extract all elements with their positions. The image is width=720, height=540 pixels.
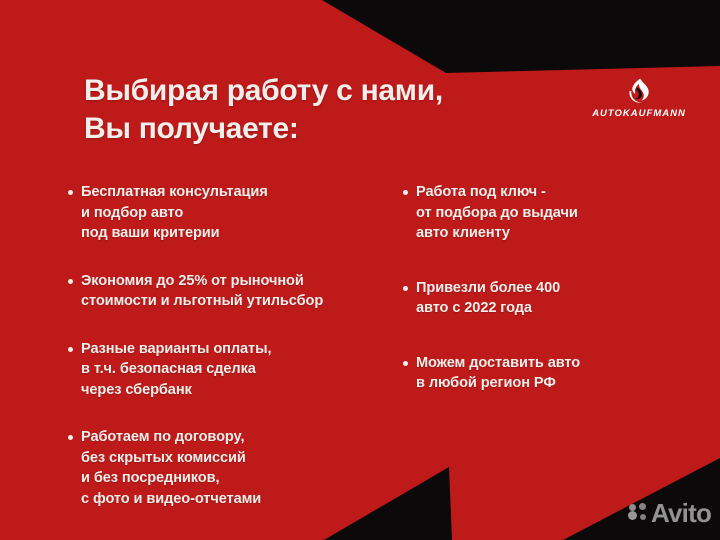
page-title: Выбирая работу с нами, Вы получаете: xyxy=(84,72,554,148)
list-item-text: Разные варианты оплаты,в т.ч. безопасная… xyxy=(81,339,271,401)
list-item-text: Экономия до 25% от рыночнойстоимости и л… xyxy=(81,271,323,312)
headline-line-2: Вы получаете: xyxy=(84,110,554,148)
brand-wordmark: AUTOKAUFMANN xyxy=(586,108,692,119)
list-item: Привезли более 400авто с 2022 года xyxy=(403,278,703,319)
list-item-text: Привезли более 400авто с 2022 года xyxy=(416,278,560,319)
promo-banner: Выбирая работу с нами, Вы получаете: AUT… xyxy=(0,0,720,540)
list-item: Экономия до 25% от рыночнойстоимости и л… xyxy=(68,271,408,312)
list-item: Работаем по договору,без скрытых комисси… xyxy=(68,427,408,509)
list-item-text: Бесплатная консультацияи подбор автопод … xyxy=(81,182,268,244)
avito-wordmark: Avito xyxy=(651,500,711,526)
list-item-line: в т.ч. безопасная сделка xyxy=(81,359,271,380)
list-item-line: под ваши критерии xyxy=(81,223,268,244)
list-item-line: с фото и видео-отчетами xyxy=(81,489,261,510)
benefits-column-left: Бесплатная консультацияи подбор автопод … xyxy=(68,182,408,536)
list-item-line: авто клиенту xyxy=(416,223,578,244)
list-item-line: в любой регион РФ xyxy=(416,373,580,394)
bullet-dot-icon xyxy=(403,361,408,366)
avito-dots-icon xyxy=(628,503,648,523)
list-item: Работа под ключ -от подбора до выдачиавт… xyxy=(403,182,703,244)
benefits-column-right: Работа под ключ -от подбора до выдачиавт… xyxy=(403,182,703,428)
list-item-line: авто с 2022 года xyxy=(416,298,560,319)
list-item-line: через сбербанк xyxy=(81,380,271,401)
list-item-line: Привезли более 400 xyxy=(416,278,560,299)
list-item-line: и без посредников, xyxy=(81,468,261,489)
brand-logo: AUTOKAUFMANN xyxy=(586,76,692,119)
list-item-line: Работаем по договору, xyxy=(81,427,261,448)
list-item-line: Бесплатная консультация xyxy=(81,182,268,203)
list-item-line: без скрытых комиссий xyxy=(81,448,261,469)
list-item-line: Можем доставить авто xyxy=(416,353,580,374)
list-item-line: и подбор авто xyxy=(81,203,268,224)
list-item: Разные варианты оплаты,в т.ч. безопасная… xyxy=(68,339,408,401)
headline-line-1: Выбирая работу с нами, xyxy=(84,72,554,110)
list-item-text: Работа под ключ -от подбора до выдачиавт… xyxy=(416,182,578,244)
bullet-dot-icon xyxy=(68,435,73,440)
list-item-line: стоимости и льготный утильсбор xyxy=(81,291,323,312)
bullet-dot-icon xyxy=(68,279,73,284)
avito-watermark: Avito xyxy=(628,500,711,526)
bullet-dot-icon xyxy=(403,190,408,195)
list-item-line: Работа под ключ - xyxy=(416,182,578,203)
bullet-dot-icon xyxy=(403,286,408,291)
list-item: Можем доставить автов любой регион РФ xyxy=(403,353,703,394)
list-item: Бесплатная консультацияи подбор автопод … xyxy=(68,182,408,244)
list-item-line: Разные варианты оплаты, xyxy=(81,339,271,360)
list-item-text: Работаем по договору,без скрытых комисси… xyxy=(81,427,261,509)
list-item-line: от подбора до выдачи xyxy=(416,203,578,224)
list-item-text: Можем доставить автов любой регион РФ xyxy=(416,353,580,394)
bullet-dot-icon xyxy=(68,347,73,352)
bullet-dot-icon xyxy=(68,190,73,195)
flame-emblem-icon xyxy=(586,76,692,106)
list-item-line: Экономия до 25% от рыночной xyxy=(81,271,323,292)
